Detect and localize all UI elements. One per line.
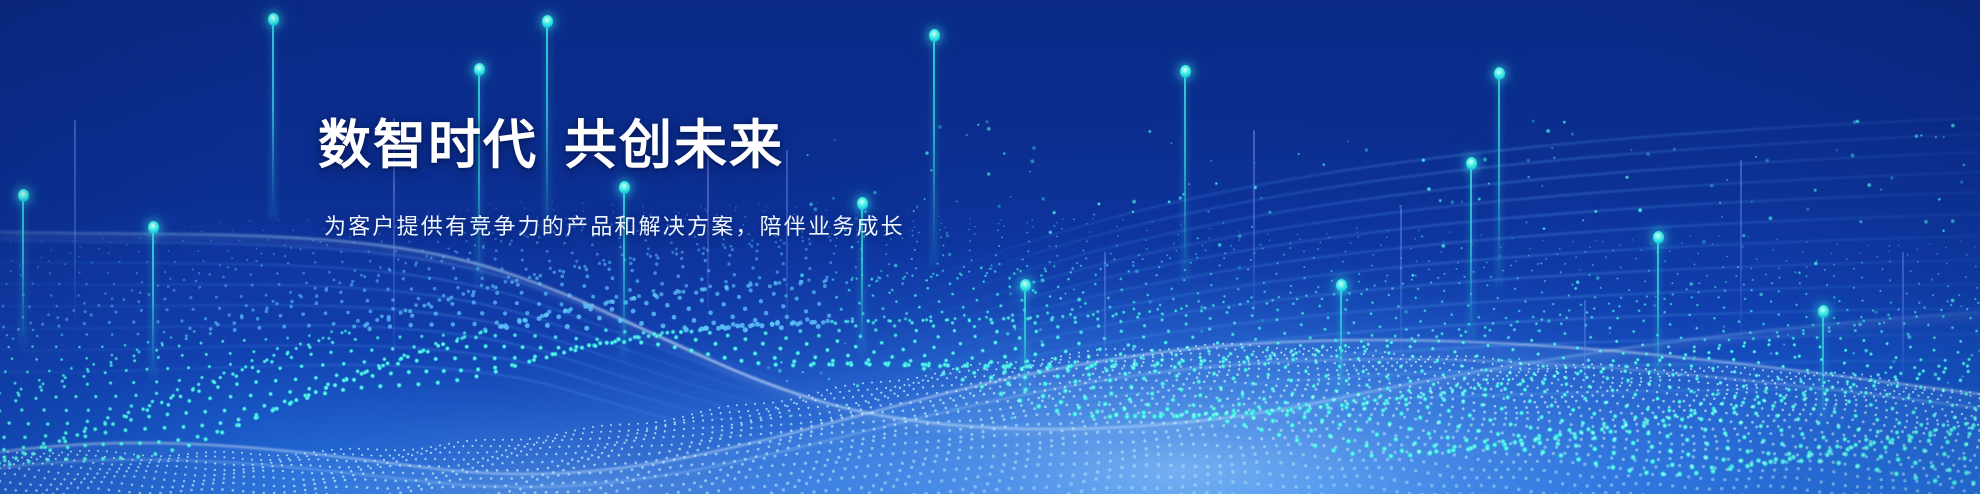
hero-banner: 数智时代共创未来 为客户提供有竞争力的产品和解决方案，陪伴业务成长	[0, 0, 1980, 494]
